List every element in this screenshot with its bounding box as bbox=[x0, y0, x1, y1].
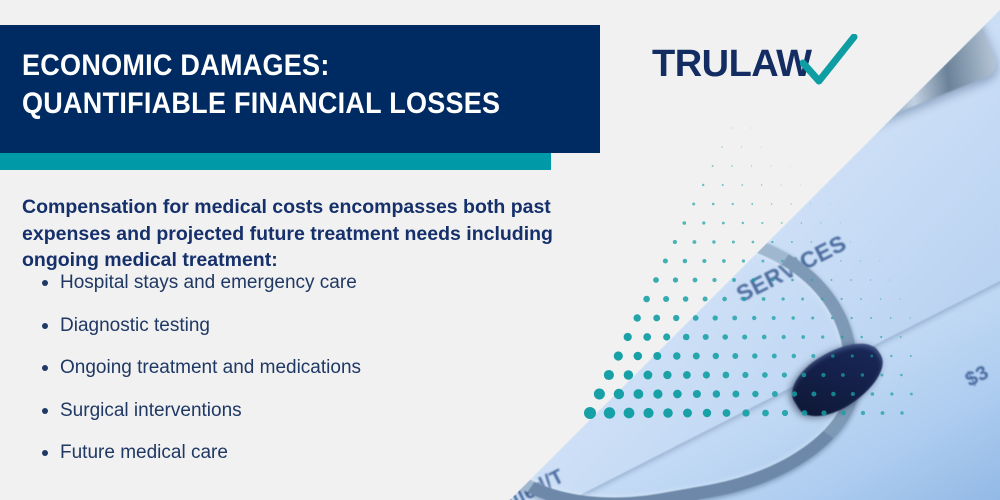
list-item: Future medical care bbox=[36, 442, 556, 464]
checkmark-icon bbox=[800, 34, 858, 88]
bullet-dot-icon bbox=[42, 450, 48, 456]
bullet-dot-icon bbox=[42, 280, 48, 286]
bill-line-immediate-care-room: EDIATE CARE ROOM bbox=[616, 76, 823, 197]
bullet-dot-icon bbox=[42, 365, 48, 371]
stethoscope-earpiece-left bbox=[643, 162, 720, 262]
list-item-label: Future medical care bbox=[60, 442, 228, 463]
bill-line-laboratory-services: ATORY SERVICES bbox=[608, 124, 779, 226]
bullet-dot-icon bbox=[42, 408, 48, 414]
infographic-canvas: nt is ce due is: RY OF PATIENT OGY EDIAT… bbox=[0, 0, 1000, 500]
list-item: Surgical interventions bbox=[36, 400, 556, 422]
list-item-label: Surgical interventions bbox=[60, 400, 242, 421]
bill-line-medical-services: AL SERVICES bbox=[600, 174, 727, 253]
title-underline-accent bbox=[0, 153, 551, 170]
list-item-label: Diagnostic testing bbox=[60, 315, 210, 336]
list-item-label: Ongoing treatment and medications bbox=[60, 357, 361, 378]
trulaw-logo[interactable]: TRULAW bbox=[652, 36, 852, 92]
list-item-label: Hospital stays and emergency care bbox=[60, 272, 357, 293]
bullet-dot-icon bbox=[42, 323, 48, 329]
page-title: ECONOMIC DAMAGES: QUANTIFIABLE FINANCIAL… bbox=[22, 47, 526, 123]
logo-wordmark: TRULAW bbox=[652, 42, 812, 86]
list-item: Hospital stays and emergency care bbox=[36, 272, 556, 294]
list-item: Ongoing treatment and medications bbox=[36, 357, 556, 379]
title-banner: ECONOMIC DAMAGES: QUANTIFIABLE FINANCIAL… bbox=[0, 25, 600, 153]
list-item: Diagnostic testing bbox=[36, 315, 556, 337]
benefits-list: Hospital stays and emergency care Diagno… bbox=[36, 272, 556, 485]
lead-paragraph: Compensation for medical costs encompass… bbox=[22, 194, 602, 274]
bill-line-radiology: OGY bbox=[626, 127, 677, 168]
